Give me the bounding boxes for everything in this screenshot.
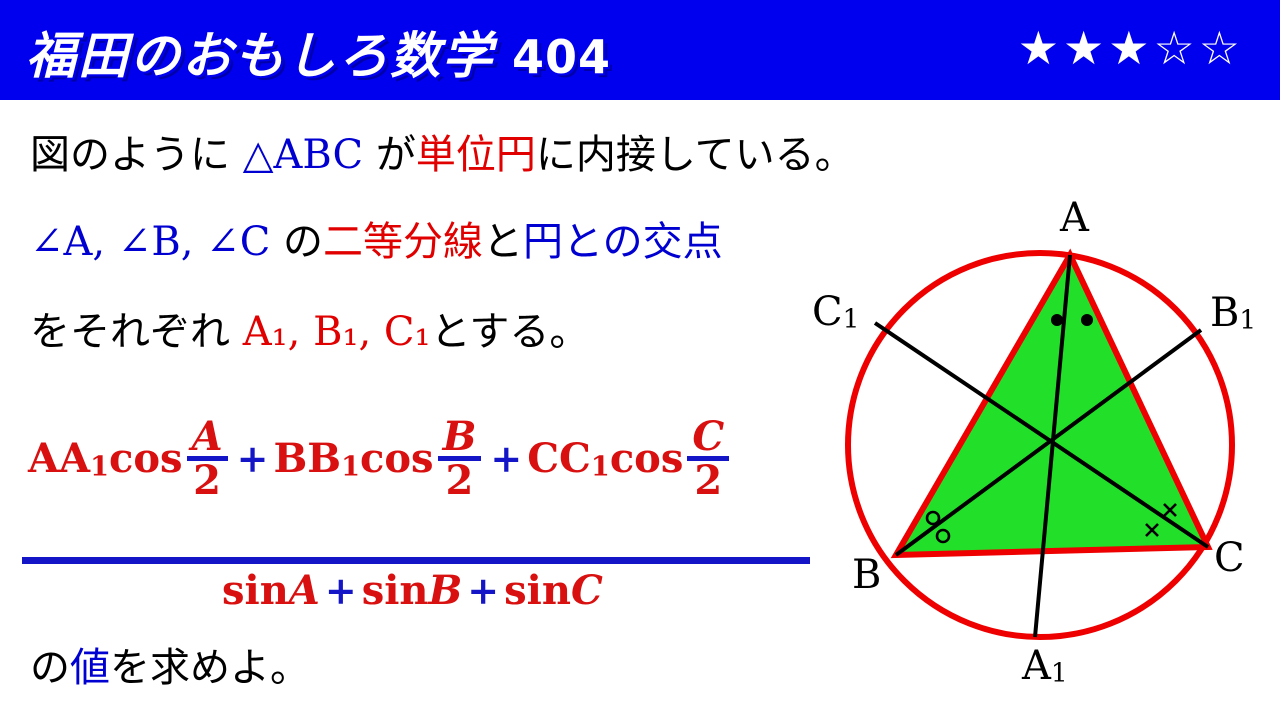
formula-term-CC: CC1cosC2 [527, 417, 733, 500]
text-run-1: A₁, B₁, C₁ [243, 309, 431, 355]
problem-line-3: をそれぞれ A₁, B₁, C₁とする。 [30, 312, 589, 352]
fraction-numerator: C [687, 417, 729, 456]
geometry-figure: ABCA1B1C1 [790, 190, 1280, 720]
fraction-B: B2 [438, 417, 482, 500]
slide-canvas: 福田のおもしろ数学404 ★★★☆☆ 図のように △ABC が単位円に内接してい… [0, 0, 1280, 720]
formula-term-AA: AA1cosA2 [28, 417, 232, 500]
text-run-4: 円との交点 [523, 219, 723, 265]
term-segment: CC1cos [527, 435, 683, 482]
text-run-2: が [363, 132, 416, 178]
term-subscript: 1 [90, 450, 109, 482]
denominator-arg: C [571, 567, 603, 614]
denominator-term-C: sinC [504, 567, 603, 614]
text-run-1: 値 [70, 645, 110, 691]
label-subscript: 1 [1051, 658, 1068, 689]
fraction-denominator: 2 [188, 461, 226, 500]
header-bar: 福田のおもしろ数学404 ★★★☆☆ [0, 0, 1280, 100]
label-subscript: 1 [1239, 305, 1256, 336]
figure-label-A: A [1060, 198, 1089, 238]
fraction-numerator: B [438, 417, 482, 456]
angle-mark-dot-1 [1081, 314, 1093, 326]
term-subscript: 1 [591, 450, 610, 482]
fraction-denominator: 2 [689, 461, 727, 500]
text-run-1: の [270, 219, 323, 265]
text-run-0: の [30, 645, 70, 691]
figure-label-A1: A1 [1022, 646, 1068, 687]
denominator-term-B: sinB [362, 567, 463, 614]
text-run-2: 二等分線 [323, 219, 483, 265]
formula-term-BB: BB1cosB2 [273, 417, 485, 500]
formula-plus-1: + [237, 436, 269, 481]
text-run-4: に内接している。 [536, 132, 855, 178]
formula-plus-3: + [490, 436, 522, 481]
text-run-0: をそれぞれ [30, 309, 243, 355]
title-number: 404 [512, 30, 611, 84]
formula-expression: AA1cosA2+BB1cosB2+CC1cosC2 sinA+sinB+sin… [22, 415, 812, 610]
denominator-term-A: sinA [222, 567, 320, 614]
denominator-arg: B [428, 567, 462, 614]
formula-main-fraction-bar [22, 557, 810, 564]
text-run-2: とする。 [431, 309, 590, 355]
triangle-abc [896, 255, 1208, 555]
formula-denominator: sinA+sinB+sinC [222, 567, 603, 614]
fraction-denominator: 2 [441, 461, 479, 500]
text-run-2: を求めよ。 [110, 645, 310, 691]
figure-label-C: C [1214, 538, 1245, 578]
term-segment: AA1cos [28, 435, 183, 482]
angle-mark-dot-0 [1051, 314, 1063, 326]
problem-line-4: の値を求めよ。 [30, 648, 310, 688]
fraction-C: C2 [687, 417, 729, 500]
denominator-plus-3: + [467, 568, 499, 613]
fraction-numerator: A [187, 417, 228, 456]
denominator-plus-1: + [325, 568, 357, 613]
problem-line-1: 図のように △ABC が単位円に内接している。 [30, 135, 855, 175]
figure-label-C1: C1 [812, 292, 859, 333]
formula-numerator: AA1cosA2+BB1cosB2+CC1cosC2 [28, 417, 733, 500]
text-run-3: 単位円 [416, 132, 536, 178]
figure-label-B1: B1 [1210, 293, 1256, 334]
text-run-1: △ABC [243, 132, 363, 178]
fraction-A: A2 [187, 417, 228, 500]
term-subscript: 1 [341, 450, 360, 482]
title-main-text: 福田のおもしろ数学 [26, 16, 494, 88]
text-run-0: 図のように [30, 132, 243, 178]
text-run-0: ∠A, ∠B, ∠C [30, 219, 270, 265]
difficulty-stars: ★★★☆☆ [1018, 22, 1244, 74]
figure-label-B: B [852, 555, 881, 595]
denominator-arg: A [289, 567, 320, 614]
text-run-3: と [483, 219, 523, 265]
problem-line-2: ∠A, ∠B, ∠C の二等分線と円との交点 [30, 222, 723, 262]
term-segment: BB1cos [273, 435, 433, 482]
page-title: 福田のおもしろ数学404 [26, 16, 611, 88]
figure-svg [790, 190, 1280, 720]
label-subscript: 1 [843, 304, 860, 335]
